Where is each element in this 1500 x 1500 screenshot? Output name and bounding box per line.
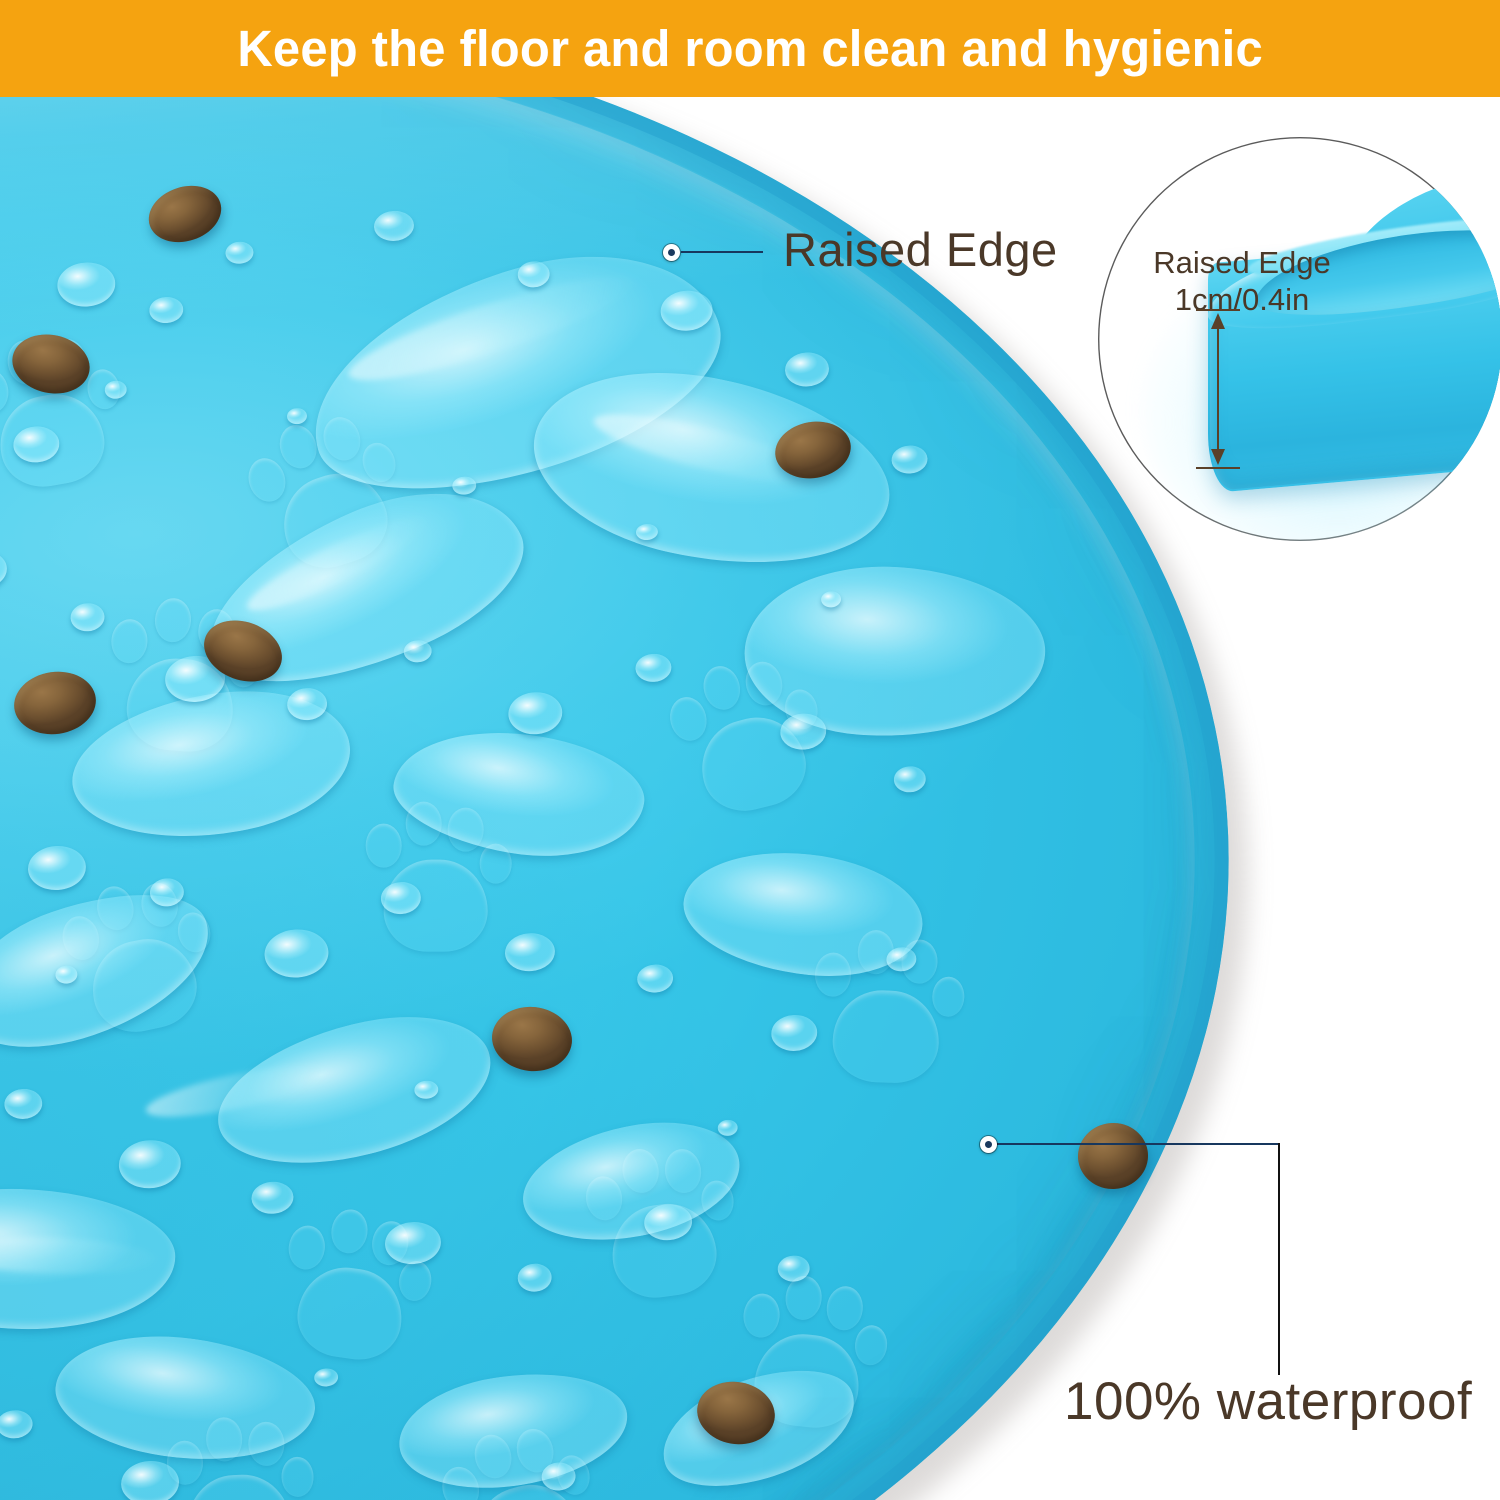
inset-caption-line2: 1cm/0.4in: [1122, 282, 1362, 319]
callout-label-waterproof: 100% waterproof: [1064, 1375, 1472, 1428]
dimension-shaft: [1217, 315, 1219, 463]
dimension-arrowhead-up-icon: [1211, 313, 1225, 329]
dimension-tick-top: [1196, 309, 1240, 311]
banner-headline: Keep the floor and room clean and hygien…: [237, 23, 1263, 74]
inset-caption: Raised Edge 1cm/0.4in: [1122, 245, 1362, 318]
dimension-arrowhead-down-icon: [1211, 449, 1225, 465]
header-banner: Keep the floor and room clean and hygien…: [0, 0, 1500, 97]
inset-caption-line1: Raised Edge: [1153, 245, 1331, 280]
callout-label-raised-edge: Raised Edge: [783, 226, 1058, 273]
raised-edge-detail-inset: Raised Edge 1cm/0.4in: [1098, 137, 1500, 541]
callout-leader-waterproof-h: [997, 1143, 1280, 1145]
dimension-arrow: [1206, 309, 1230, 469]
dimension-tick-bottom: [1196, 467, 1240, 469]
callout-leader-waterproof-v: [1278, 1143, 1280, 1375]
product-photo: Raised Edge 100% waterproof Raised Edge …: [0, 97, 1500, 1500]
callout-dot-waterproof[interactable]: [980, 1136, 997, 1153]
callout-dot-raised-edge[interactable]: [663, 244, 680, 261]
callout-leader-raised-edge: [681, 251, 763, 253]
